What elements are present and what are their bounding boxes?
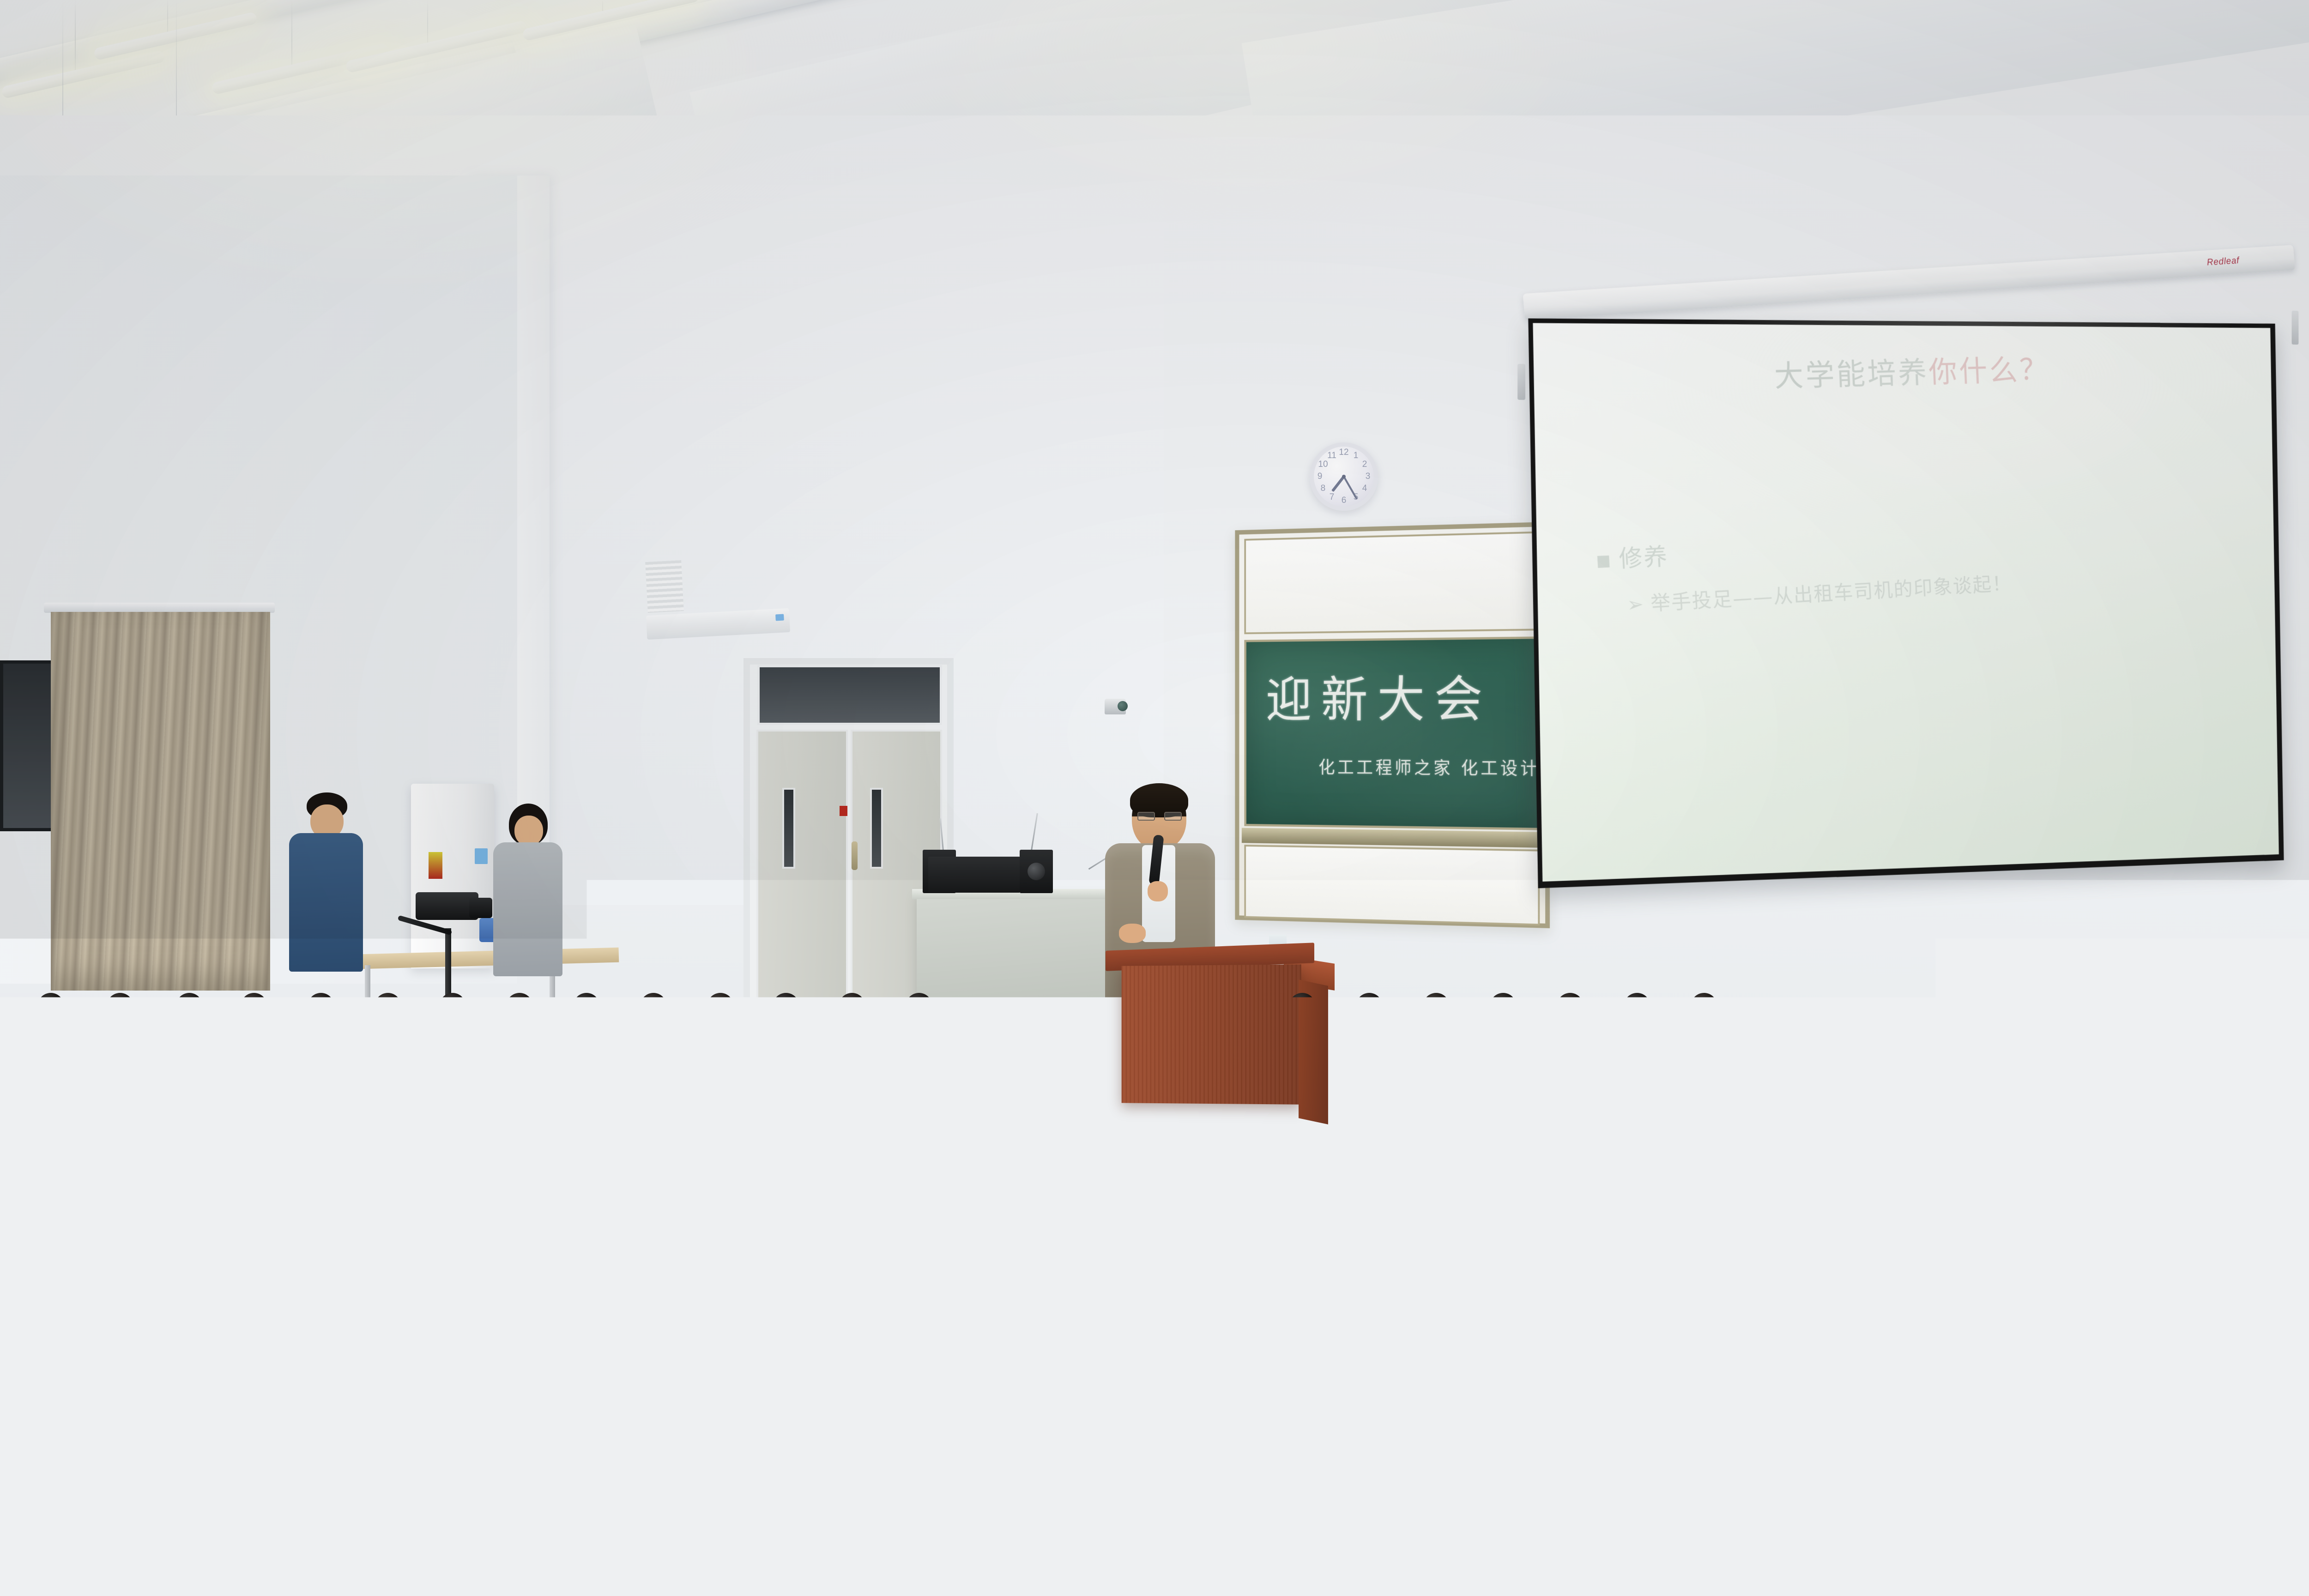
- audience-member-head: [1792, 1275, 1839, 1325]
- bench-end-cap: [1405, 1067, 1423, 1107]
- audience-member-head: [374, 993, 402, 1022]
- bottle-brand-label: 农夫山泉: [416, 1346, 445, 1356]
- audience-member-head: [99, 1118, 136, 1156]
- light-suspension-wire: [75, 0, 76, 71]
- audience-member-head: [1623, 993, 1651, 1022]
- audio-amplifier: [928, 857, 1021, 893]
- audience-member-head: [1686, 1275, 1733, 1325]
- blackboard-whiteboard-bottom: [1244, 845, 1540, 925]
- light-suspension-wire: [167, 0, 168, 33]
- stage-counter: [917, 894, 1111, 1060]
- blackboard-green-panel: 迎新大会 化工工程师之家 化工设计协会: [1244, 636, 1540, 830]
- slide-bullet-1-text: 修养: [1618, 543, 1669, 573]
- slide-bullet-1: ▪修养: [1594, 537, 1669, 575]
- standing-person-2-torso: [493, 842, 562, 976]
- audience-member-head: [1473, 1118, 1510, 1156]
- audience-member-head: [623, 1275, 671, 1325]
- audience-member-head: [1069, 1118, 1106, 1156]
- audience-member-torso: [1055, 1146, 1120, 1217]
- audience-member-head: [92, 1275, 140, 1325]
- audience-member-torso: [1782, 1146, 1848, 1217]
- clock-numeral-7: 7: [1330, 492, 1335, 502]
- wall-vent-grille: [645, 560, 684, 613]
- audience-member-torso: [812, 1146, 878, 1217]
- audience-member-head: [640, 993, 667, 1022]
- audience-member-head: [305, 1275, 352, 1325]
- camera-lens-icon: [469, 898, 492, 918]
- audience-member-head: [707, 993, 734, 1022]
- speaker-hand-holding-mic: [1148, 881, 1168, 901]
- screen-brand-label: Redleaf: [2206, 255, 2240, 268]
- audience-member-head: [827, 1118, 863, 1156]
- audience-member-head: [1154, 1275, 1202, 1325]
- audience-member-torso: [893, 1146, 959, 1217]
- audience-member-head: [1891, 993, 1919, 1022]
- water-bottle[interactable]: 农夫山泉 NONGFU SPRING: [416, 1309, 445, 1402]
- clock-numeral-8: 8: [1321, 484, 1326, 494]
- audience-member-head: [526, 1422, 587, 1487]
- mobile-phone-2[interactable]: [1403, 1389, 1445, 1412]
- audience-member-head: [1898, 1275, 1946, 1325]
- clock-numeral-3: 3: [1366, 472, 1371, 482]
- audience-member-torso: [974, 1146, 1040, 1217]
- audience-member-head: [503, 1118, 540, 1156]
- blackboard-title: 迎新大会: [1266, 675, 1493, 725]
- audience-member-torso: [1944, 1146, 2009, 1217]
- clock-numeral-10: 10: [1318, 459, 1328, 470]
- audience-member-head: [111, 1422, 172, 1487]
- door-vision-slot-left: [782, 788, 795, 869]
- clock-numeral-1: 1: [1354, 451, 1359, 461]
- audience-member-torso: [1216, 1146, 1282, 1217]
- audience-member-head: [804, 1422, 864, 1487]
- audience-member-head: [988, 1118, 1025, 1156]
- light-suspension-wire: [291, 0, 292, 66]
- slide-bullet-2: ➢举手投足——从出租车司机的印象谈起！: [1626, 567, 2012, 617]
- audience-member-head: [1231, 1118, 1267, 1156]
- audience-member-head: [665, 1118, 701, 1156]
- audience-member-head: [1824, 993, 1852, 1022]
- standing-person-2-face: [514, 816, 543, 846]
- audience-member-head: [517, 1275, 565, 1325]
- audience-member-head: [1773, 1422, 1834, 1487]
- audience-member-head: [106, 993, 134, 1022]
- audience-member-head: [423, 1118, 459, 1156]
- audience-member-head: [1496, 1422, 1557, 1487]
- audience-member-torso: [1297, 1146, 1363, 1217]
- side-table-leg-left: [365, 965, 370, 1021]
- audience-member-head: [1355, 993, 1383, 1022]
- audience-member-head: [1635, 1118, 1671, 1156]
- speaker-other-hand: [1119, 924, 1146, 943]
- audience-member-head: [1048, 1275, 1096, 1325]
- bullet-marker-2: ➢: [1626, 592, 1645, 617]
- audience-member-head: [199, 1275, 246, 1325]
- audience-member-torso: [327, 1146, 393, 1217]
- audience-member-head: [180, 1118, 217, 1156]
- audience-member-head: [1556, 993, 1584, 1022]
- audience-member-torso: [1378, 1146, 1444, 1217]
- audience-member-torso: [1136, 1146, 1201, 1217]
- slide-bullet-2-text: 举手投足——从出租车司机的印象谈起！: [1650, 572, 2012, 616]
- audience-member-head: [439, 993, 466, 1022]
- bench-end-cap: [861, 1079, 879, 1118]
- audience-member-torso: [570, 1146, 635, 1217]
- bench-end-cap: [36, 1223, 58, 1272]
- audience-member-head: [584, 1118, 621, 1156]
- audience-member-torso: [651, 1146, 716, 1217]
- audience-member-head: [1796, 1118, 1833, 1156]
- audience-member-head: [1081, 1422, 1142, 1487]
- door-leaf-left[interactable]: [756, 730, 848, 1032]
- audience-member-torso: [1540, 1146, 1605, 1217]
- standing-person-blue-shirt: [286, 792, 365, 977]
- audience-member-head: [665, 1422, 726, 1487]
- audience-member-head: [730, 1275, 777, 1325]
- bench-end-cap: [2221, 1050, 2238, 1090]
- audience-member-head: [2050, 1422, 2111, 1487]
- wall-clock: 121234567891011: [1310, 442, 1378, 511]
- audience-member-head: [1358, 1422, 1419, 1487]
- audience-member-head: [261, 1118, 297, 1156]
- bottle-cap: [420, 1309, 441, 1312]
- standing-person-grey-cardigan: [493, 804, 562, 979]
- bench-end-cap: [318, 1090, 335, 1130]
- blackboard-subtitle: 化工工程师之家 化工设计协会: [1318, 753, 1540, 780]
- bench-end-cap: [1133, 1073, 1151, 1112]
- audience-member-head: [2092, 993, 2120, 1022]
- clock-numeral-2: 2: [1362, 459, 1367, 470]
- blackboard-whiteboard-top: [1244, 532, 1540, 635]
- audience-member-head: [18, 1118, 55, 1156]
- audience-member-torso: [1863, 1146, 1928, 1217]
- audience-member-head: [1219, 1422, 1280, 1487]
- audience-member-head: [342, 1118, 378, 1156]
- audience-member-head: [1554, 1118, 1590, 1156]
- audience-member-head: [506, 993, 533, 1022]
- bottle-brand-label-latin: NONGFU SPRING: [416, 1355, 445, 1364]
- audience-member-head: [746, 1118, 782, 1156]
- audience-member-head: [1473, 1275, 1521, 1325]
- lecture-hall-photo: 迎新大会 化工工程师之家 化工设计协会 121234567891011 Redl…: [0, 0, 2309, 1596]
- audience-member-head: [1288, 993, 1316, 1022]
- audience-member-torso: [166, 1146, 231, 1217]
- clock-numeral-12: 12: [1339, 447, 1348, 458]
- audience-member-torso: [731, 1146, 797, 1217]
- audience-member-head: [2025, 993, 2053, 1022]
- audience-member-head: [2004, 1275, 2052, 1325]
- wall-notice-text: [1127, 768, 1161, 780]
- door-handle[interactable]: [852, 841, 858, 870]
- audience-member-head: [836, 1275, 883, 1325]
- slide-title: 大学能培养你什么？: [1773, 345, 2050, 396]
- door-warning-sign-icon: [840, 806, 847, 816]
- slide-title-accent: 你什么？: [1928, 352, 2050, 390]
- bench-end-cap: [2273, 1501, 2307, 1578]
- audience-member-head: [1635, 1422, 1696, 1487]
- audience-member-torso: [85, 1146, 151, 1217]
- screen-bracket-right: [2292, 311, 2299, 345]
- audience-member-head: [240, 993, 268, 1022]
- door-vision-slot-right: [870, 788, 883, 869]
- speaker-glasses-icon: [1137, 812, 1182, 821]
- audience-member-torso: [1459, 1146, 1524, 1217]
- audience-member-head: [1422, 993, 1450, 1022]
- door-transom-window: [757, 665, 942, 725]
- slide-title-plain: 大学能培养: [1774, 355, 1929, 394]
- audience-member-torso: [4, 1146, 70, 1217]
- mobile-phone[interactable]: [239, 1319, 281, 1343]
- bullet-marker-1: ▪: [1595, 546, 1614, 574]
- thermos-bottle[interactable]: [1179, 1481, 1260, 1596]
- audience-member-head: [1757, 993, 1785, 1022]
- clock-hub: [1342, 475, 1346, 478]
- audience-member-torso: [2025, 1146, 2090, 1217]
- clock-numeral-11: 11: [1327, 451, 1336, 461]
- audience-member-head: [772, 993, 800, 1022]
- audience-member-head: [1958, 1118, 1995, 1156]
- projection-screen: Redleaf 大学能培养你什么？ ▪修养 ➢举手投足——从出租车司机的印象谈起…: [1524, 294, 2309, 973]
- audience-member-head: [907, 1118, 944, 1156]
- light-suspension-wire: [427, 0, 428, 43]
- audience-member-head: [942, 1275, 990, 1325]
- clock-numeral-9: 9: [1318, 472, 1323, 482]
- audience-member-head: [249, 1422, 310, 1487]
- audio-speaker-right: [1020, 850, 1053, 893]
- audience-member-torso: [408, 1146, 474, 1217]
- cctv-camera-icon: [1105, 699, 1126, 714]
- bench-end-cap: [2231, 1162, 2253, 1211]
- audience-member-head: [388, 1422, 449, 1487]
- thermos-lid: [1182, 1484, 1256, 1509]
- audience-member-head: [942, 1422, 1003, 1487]
- audience-member-head: [1261, 1275, 1308, 1325]
- audience-member-head: [1690, 993, 1718, 1022]
- blackboard: 迎新大会 化工工程师之家 化工设计协会: [1235, 522, 1550, 928]
- clock-numeral-4: 4: [1362, 484, 1367, 494]
- audience-member-head: [1877, 1118, 1914, 1156]
- audience-member-torso: [1701, 1146, 1767, 1217]
- audience-member-torso: [489, 1146, 555, 1217]
- audience-member-head: [1489, 993, 1517, 1022]
- audience-member-head: [573, 993, 600, 1022]
- standing-person-torso: [289, 833, 363, 972]
- light-suspension-wire: [602, 0, 603, 12]
- audience-member-head: [838, 993, 866, 1022]
- audience-member-head: [905, 993, 933, 1022]
- screen-frame: 大学能培养你什么？ ▪修养 ➢举手投足——从出租车司机的印象谈起！: [1528, 318, 2284, 888]
- audience-member-head: [307, 993, 335, 1022]
- audience-member-head: [1367, 1275, 1414, 1325]
- audience-member-head: [1716, 1118, 1752, 1156]
- audience-member-head: [1312, 1118, 1348, 1156]
- audience-member-head: [2189, 1422, 2250, 1487]
- audience-member-torso: [247, 1146, 312, 1217]
- screen-bracket-left: [1517, 364, 1525, 400]
- audience-member-torso: [1620, 1146, 1686, 1217]
- screen-surface: 大学能培养你什么？ ▪修养 ➢举手投足——从出租车司机的印象谈起！: [1533, 323, 2279, 882]
- audience-member-head: [175, 993, 203, 1022]
- audience-member-head: [2039, 1118, 2075, 1156]
- window-curtain: [51, 612, 270, 991]
- audience-member-head: [37, 993, 65, 1022]
- curtain-rail: [44, 603, 275, 613]
- bench-end-cap: [311, 1216, 332, 1264]
- audience-member-head: [1392, 1118, 1429, 1156]
- audience-member-head: [1150, 1118, 1186, 1156]
- audience-member-head: [1579, 1275, 1627, 1325]
- clock-numeral-6: 6: [1342, 496, 1347, 506]
- bench-end-cap: [2250, 1322, 2277, 1382]
- audience-member-head: [1958, 993, 1986, 1022]
- audience-member-head: [1912, 1422, 1973, 1487]
- chalk-ledge: [1242, 828, 1542, 848]
